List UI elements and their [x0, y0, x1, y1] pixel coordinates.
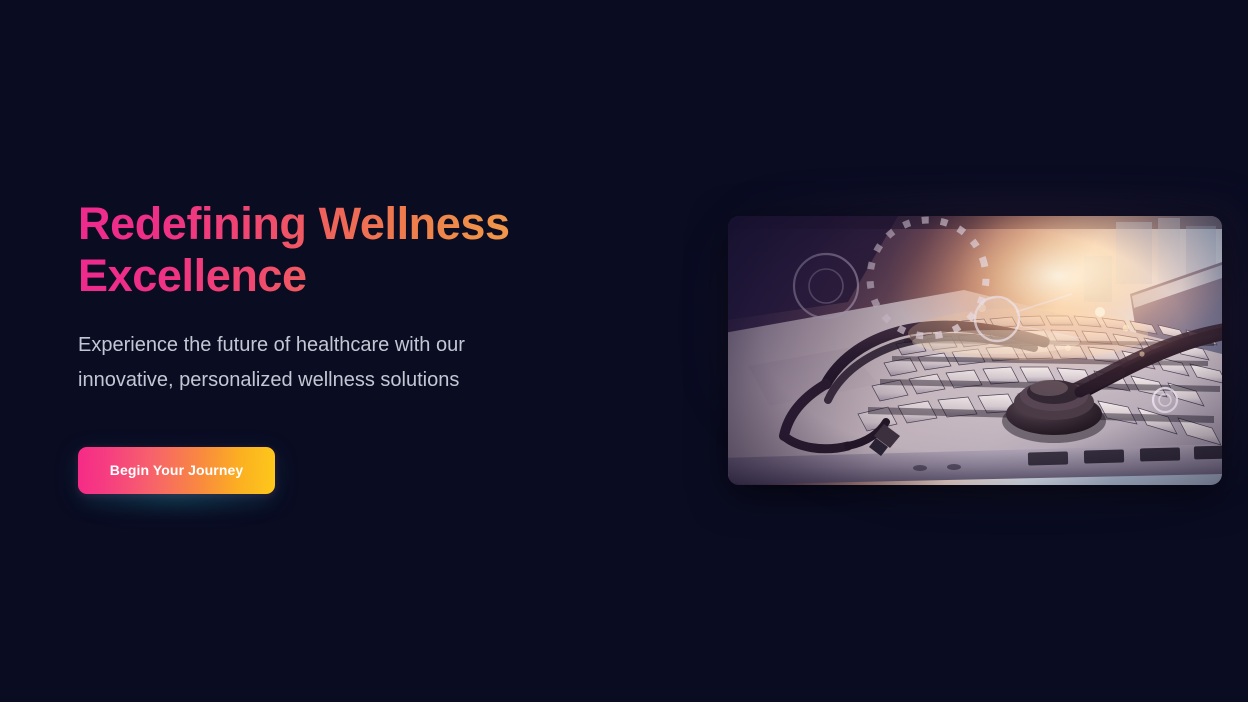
begin-your-journey-button[interactable]: Begin Your Journey — [78, 447, 275, 494]
hero-copy: Redefining Wellness Excellence Experienc… — [78, 198, 638, 494]
hero-inner: Redefining Wellness Excellence Experienc… — [0, 0, 1248, 702]
hero-section: Redefining Wellness Excellence Experienc… — [0, 0, 1248, 702]
page-title: Redefining Wellness Excellence — [78, 198, 638, 302]
hero-subtitle: Experience the future of healthcare with… — [78, 328, 548, 398]
hero-visual — [728, 216, 1222, 485]
hero-image-card — [728, 216, 1222, 485]
cta-wrapper: Begin Your Journey — [78, 447, 275, 494]
stethoscope-laptop-illustration — [728, 216, 1222, 485]
